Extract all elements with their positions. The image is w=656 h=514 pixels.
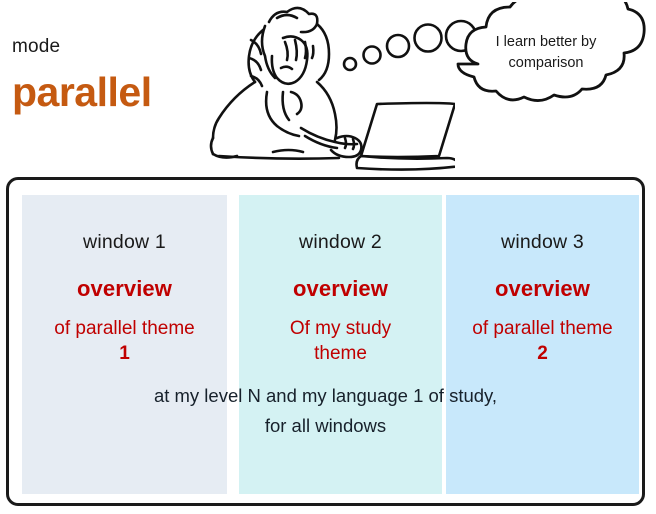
window-panel-3[interactable]: window 3 overview of parallel theme 2	[446, 195, 639, 494]
window-panel-1-subtitle: of parallel theme 1	[22, 316, 227, 366]
window-panel-3-heading: overview	[446, 276, 639, 302]
thought-bubble-text: I learn better by comparison	[466, 32, 626, 74]
window-panel-2-subtitle: Of my study theme	[239, 316, 442, 366]
windows-board: window 1 overview of parallel theme 1 wi…	[6, 177, 645, 506]
window-panel-1-title: window 1	[22, 231, 227, 254]
window-panel-3-subtitle: of parallel theme 2	[446, 316, 639, 366]
window-panel-2[interactable]: window 2 overview Of my study theme	[239, 195, 442, 494]
window-panel-3-sub-line-1: of parallel theme	[450, 316, 635, 341]
window-panel-3-sub-line-2: 2	[450, 341, 635, 366]
mode-value: parallel	[12, 69, 152, 116]
window-panel-2-sub-line-2: theme	[243, 341, 438, 366]
window-panel-3-title: window 3	[446, 231, 639, 254]
window-panel-1-heading: overview	[22, 276, 227, 302]
window-panel-2-sub-line-1: Of my study	[243, 316, 438, 341]
window-panel-2-title: window 2	[239, 231, 442, 254]
window-panel-1-sub-line-2: 1	[26, 341, 223, 366]
window-panel-1-sub-line-1: of parallel theme	[26, 316, 223, 341]
window-panel-1[interactable]: window 1 overview of parallel theme 1	[22, 195, 227, 494]
window-panel-2-heading: overview	[239, 276, 442, 302]
mode-label: mode	[12, 36, 60, 58]
